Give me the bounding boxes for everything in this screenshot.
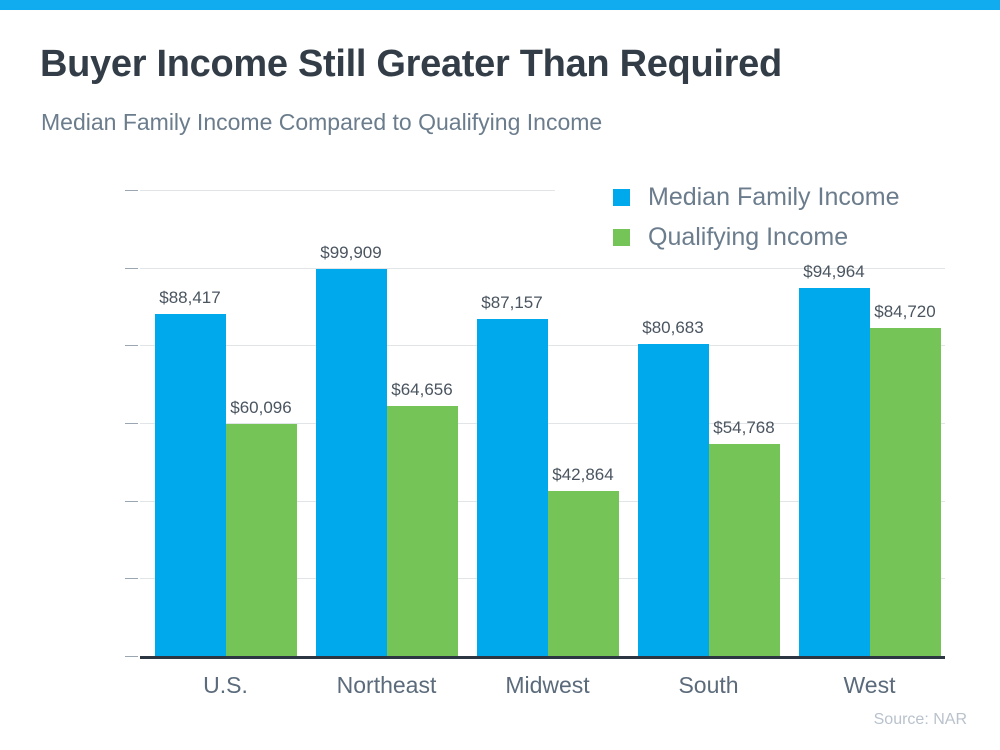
legend-item-qualifying-income[interactable]: Qualifying Income bbox=[613, 223, 899, 251]
bar[interactable] bbox=[870, 328, 941, 657]
bar[interactable] bbox=[477, 319, 548, 657]
bar-value-label: $64,656 bbox=[373, 380, 472, 400]
x-axis-category-label: West bbox=[769, 672, 971, 699]
bar[interactable] bbox=[638, 344, 709, 657]
chart-legend: Median Family Income Qualifying Income bbox=[613, 183, 899, 263]
y-axis-tick-mark bbox=[125, 423, 138, 424]
bar-value-label: $60,096 bbox=[212, 398, 311, 418]
bar[interactable] bbox=[709, 444, 780, 657]
y-axis-tick-mark bbox=[125, 268, 138, 269]
chart-page: Buyer Income Still Greater Than Required… bbox=[0, 0, 1000, 750]
legend-item-median-family-income[interactable]: Median Family Income bbox=[613, 183, 899, 211]
source-note: Source: NAR bbox=[874, 711, 967, 729]
y-axis-tick-mark bbox=[125, 656, 138, 657]
legend-label: Median Family Income bbox=[648, 183, 899, 212]
bar-group-u-s: $88,417$60,096 bbox=[155, 191, 297, 657]
bar-value-label: $87,157 bbox=[463, 293, 562, 313]
y-axis-tick-mark bbox=[125, 345, 138, 346]
bar-value-label: $88,417 bbox=[141, 288, 240, 308]
y-axis-tick-mark bbox=[125, 578, 138, 579]
legend-swatch-icon-qualifying-income bbox=[613, 229, 630, 246]
legend-swatch-icon-median-family-income bbox=[613, 189, 630, 206]
page-subtitle: Median Family Income Compared to Qualify… bbox=[41, 109, 602, 136]
top-accent-bar bbox=[0, 0, 1000, 10]
bar[interactable] bbox=[548, 491, 619, 657]
bar[interactable] bbox=[316, 269, 387, 657]
legend-label: Qualifying Income bbox=[648, 223, 848, 252]
page-title: Buyer Income Still Greater Than Required bbox=[40, 43, 782, 86]
bar[interactable] bbox=[799, 288, 870, 657]
x-axis-baseline bbox=[140, 656, 945, 659]
bar[interactable] bbox=[387, 406, 458, 657]
bar[interactable] bbox=[226, 424, 297, 657]
bar-group-northeast: $99,909$64,656 bbox=[316, 191, 458, 657]
bar-value-label: $80,683 bbox=[624, 318, 723, 338]
bar-value-label: $84,720 bbox=[856, 302, 955, 322]
bar-value-label: $42,864 bbox=[534, 465, 633, 485]
y-axis-tick-mark bbox=[125, 190, 138, 191]
bar-group-midwest: $87,157$42,864 bbox=[477, 191, 619, 657]
bar-value-label: $94,964 bbox=[785, 262, 884, 282]
bar[interactable] bbox=[155, 314, 226, 657]
bar-value-label: $54,768 bbox=[695, 418, 794, 438]
y-axis-tick-mark bbox=[125, 501, 138, 502]
bar-value-label: $99,909 bbox=[302, 243, 401, 263]
